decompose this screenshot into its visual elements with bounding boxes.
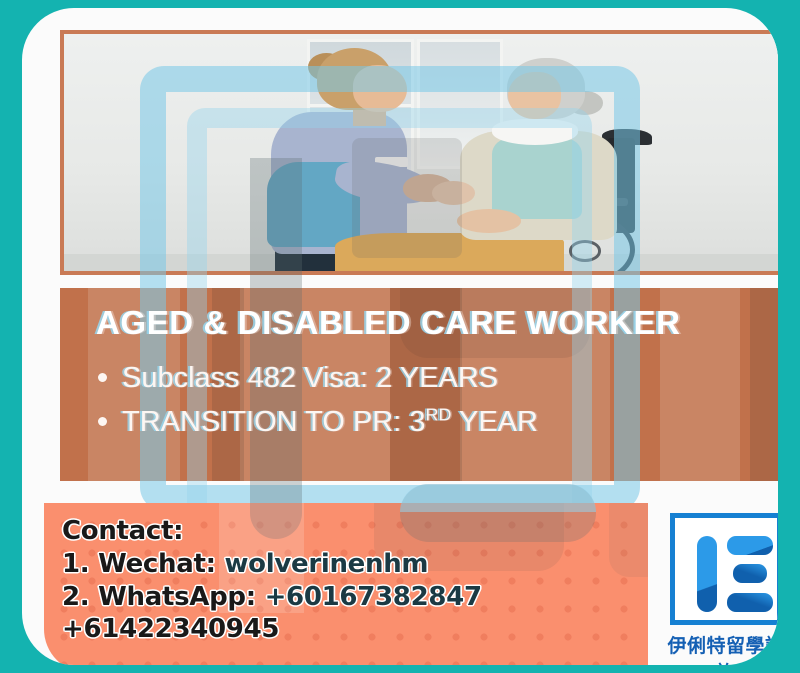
contact-wechat-value: wolverinenhm — [224, 549, 428, 579]
list-item-pr-ordinal: RD — [425, 404, 451, 424]
page-title: AGED & DISABLED CARE WORKER — [96, 304, 778, 342]
brand-logo[interactable]: 伊俐特留學諮詢 — [662, 513, 778, 665]
elderly-hand — [457, 209, 521, 233]
photo-frame — [60, 30, 778, 275]
wheelchair-hub — [569, 240, 601, 261]
contact-whatsapp-value: +60167382847 — [265, 582, 482, 612]
contact-wechat-label: 1. Wechat: — [62, 549, 224, 579]
list-item-visa: Subclass 482 Visa: 2 YEARS — [122, 356, 778, 400]
contact-heading: Contact: — [62, 515, 648, 548]
logo-middle-bar-icon — [733, 564, 767, 583]
nurse-face — [353, 65, 407, 112]
list-item-pr: TRANSITION TO PR: 3RD YEAR — [122, 400, 778, 444]
elderly-face — [508, 72, 561, 119]
contact-phone-au-value: +61422340945 — [62, 614, 279, 644]
benefit-list: Subclass 482 Visa: 2 YEARS TRANSITION TO… — [96, 356, 778, 444]
list-item-pr-pre: TRANSITION TO PR: 3 — [122, 406, 425, 438]
contact-whatsapp-label: 2. WhatsApp: — [62, 582, 265, 612]
elderly-shirt — [492, 138, 581, 219]
poster-card: AGED & DISABLED CARE WORKER Subclass 482… — [22, 8, 778, 665]
contact-phone-au[interactable]: +61422340945 — [62, 613, 648, 646]
headline-band: AGED & DISABLED CARE WORKER Subclass 482… — [60, 288, 778, 481]
logo-mark-icon — [670, 513, 778, 625]
contact-panel: Contact: 1. Wechat: wolverinenhm 2. What… — [44, 503, 648, 665]
poster-canvas: AGED & DISABLED CARE WORKER Subclass 482… — [0, 0, 800, 673]
logo-vertical-bar-icon — [697, 536, 717, 612]
joined-hands-second — [432, 181, 475, 205]
logo-bottom-bar-icon — [727, 593, 773, 612]
logo-top-bar-icon — [727, 536, 773, 555]
list-item-pr-post: YEAR — [451, 406, 538, 438]
contact-wechat[interactable]: 1. Wechat: wolverinenhm — [62, 548, 648, 581]
logo-caption: 伊俐特留學諮詢 — [662, 631, 778, 665]
care-photo — [64, 34, 778, 271]
contact-whatsapp[interactable]: 2. WhatsApp: +60167382847 — [62, 581, 648, 614]
